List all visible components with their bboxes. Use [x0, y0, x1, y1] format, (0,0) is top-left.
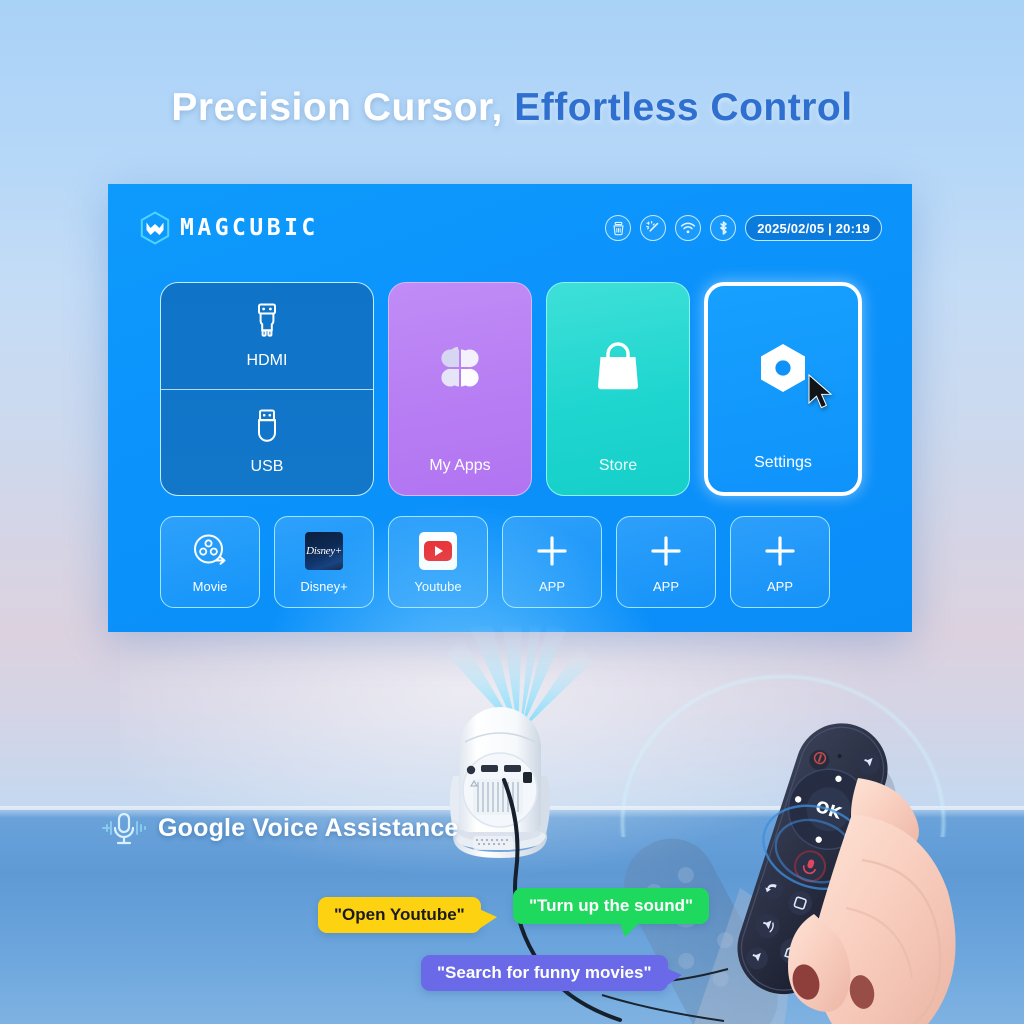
- settings-hex-nut-icon: [708, 286, 858, 450]
- screen-header: MAGCUBIC: [140, 208, 882, 248]
- tile-hdmi[interactable]: HDMI: [161, 283, 373, 389]
- tile-usb[interactable]: USB: [161, 389, 373, 496]
- disney-plus-icon: Disney+: [305, 530, 343, 572]
- usb-icon: [251, 408, 283, 446]
- tile-store[interactable]: Store: [546, 282, 690, 496]
- tile-store-label: Store: [599, 457, 637, 475]
- status-bar: 2025/02/05 | 20:19: [605, 215, 882, 241]
- page-headline: Precision Cursor, Effortless Control: [0, 86, 1024, 130]
- cleaner-icon[interactable]: [605, 215, 631, 241]
- tile-usb-label: USB: [251, 458, 284, 476]
- plus-icon: [648, 530, 684, 572]
- voice-assistance-text: Google Voice Assistance: [158, 814, 459, 843]
- app-tile-label: APP: [539, 579, 565, 594]
- tile-my-apps[interactable]: My Apps: [388, 282, 532, 496]
- projected-home-screen: MAGCUBIC: [108, 184, 912, 632]
- brand-logo: MAGCUBIC: [140, 211, 319, 245]
- magic-wand-keystone-icon[interactable]: [640, 215, 666, 241]
- app-tile-movie[interactable]: Movie: [160, 516, 260, 608]
- app-tile-label: Movie: [193, 579, 228, 594]
- app-tile-add-app-1[interactable]: APP: [502, 516, 602, 608]
- app-tile-disney-plus[interactable]: Disney+ Disney+: [274, 516, 374, 608]
- app-shortcut-row: Movie Disney+ Disney+ Youtube APP: [160, 516, 872, 608]
- io-tile-group: HDMI USB: [160, 282, 374, 496]
- app-tile-label: APP: [653, 579, 679, 594]
- headline-part-blue: Effortless Control: [514, 86, 852, 129]
- app-tile-label: Disney+: [300, 579, 347, 594]
- app-tile-add-app-2[interactable]: APP: [616, 516, 716, 608]
- main-tile-row: HDMI USB: [160, 282, 872, 496]
- wifi-icon[interactable]: [675, 215, 701, 241]
- plus-icon: [534, 530, 570, 572]
- youtube-icon: [419, 530, 457, 572]
- speech-bubble-search-for-funny-movies: "Search for funny movies": [421, 955, 668, 991]
- bluetooth-icon[interactable]: [710, 215, 736, 241]
- tile-settings[interactable]: Settings: [704, 282, 862, 496]
- speech-bubble-open-youtube: "Open Youtube": [318, 897, 481, 933]
- brand-logo-text: MAGCUBIC: [180, 215, 319, 241]
- tile-hdmi-label: HDMI: [247, 352, 288, 370]
- app-tile-label: APP: [767, 579, 793, 594]
- voice-assistance-label: Google Voice Assistance: [100, 808, 459, 848]
- plus-icon: [762, 530, 798, 572]
- microphone-icon: [100, 808, 148, 848]
- speech-bubble-turn-up-the-sound: "Turn up the sound": [513, 888, 709, 924]
- app-tile-label: Youtube: [414, 579, 461, 594]
- shopping-bag-icon: [547, 283, 689, 453]
- mouse-cursor-icon: [806, 374, 836, 412]
- headline-part-white: Precision Cursor,: [171, 86, 502, 129]
- app-tile-add-app-3[interactable]: APP: [730, 516, 830, 608]
- my-apps-flower-icon: [389, 283, 531, 453]
- tile-settings-label: Settings: [754, 454, 812, 472]
- film-reel-icon: [190, 530, 230, 572]
- tile-my-apps-label: My Apps: [429, 457, 490, 475]
- hdmi-icon: [250, 302, 284, 340]
- hexagon-m-logo-icon: [140, 211, 170, 245]
- status-clock: 2025/02/05 | 20:19: [745, 215, 882, 241]
- app-tile-youtube[interactable]: Youtube: [388, 516, 488, 608]
